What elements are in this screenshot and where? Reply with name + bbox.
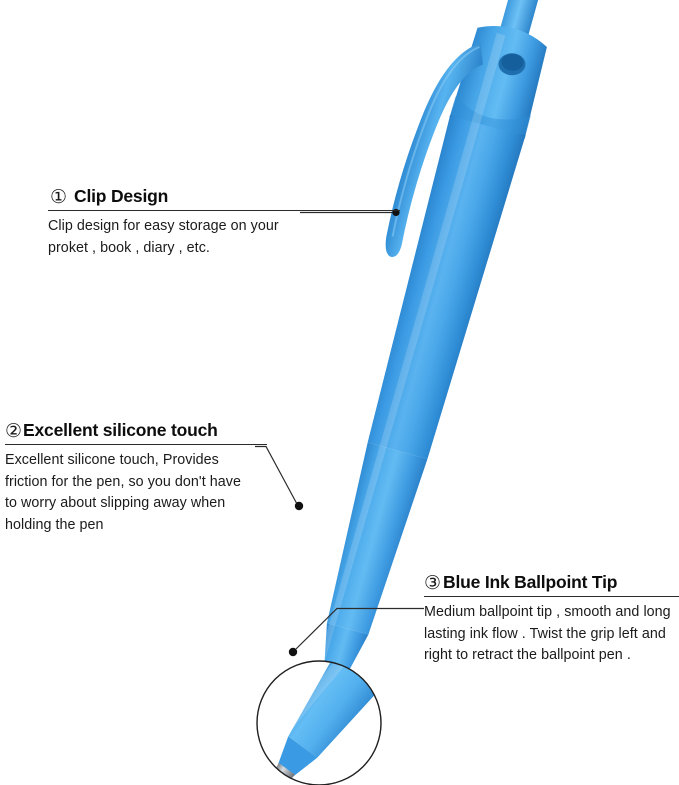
- callout-3-divider: [424, 596, 679, 597]
- callout-1-header: ① Clip Design: [48, 186, 400, 207]
- callout-clip-design: ① Clip Design Clip design for easy stora…: [48, 186, 400, 259]
- callout-1-body: Clip design for easy storage on your pro…: [48, 216, 316, 259]
- leader-marker-3: [289, 648, 297, 656]
- callout-2-title: Excellent silicone touch: [23, 420, 218, 441]
- callout-2-number-badge: ②: [5, 422, 22, 441]
- callout-3-body: Medium ballpoint tip , smooth and long l…: [424, 602, 672, 667]
- callout-1-number-badge: ①: [50, 188, 67, 207]
- product-infographic: ① Clip Design Clip design for easy stora…: [0, 0, 679, 785]
- callout-3-header: ③ Blue Ink Ballpoint Tip: [424, 572, 679, 593]
- callout-1-divider: [48, 210, 400, 211]
- callout-ballpoint-tip: ③ Blue Ink Ballpoint Tip Medium ballpoin…: [424, 572, 679, 667]
- callout-1-title: Clip Design: [74, 186, 168, 207]
- callout-2-header: ② Excellent silicone touch: [5, 420, 267, 441]
- callout-2-body: Excellent silicone touch, Provides frict…: [5, 450, 253, 537]
- callout-3-number-badge: ③: [424, 574, 441, 593]
- callout-3-title: Blue Ink Ballpoint Tip: [443, 572, 617, 593]
- tip-detail-inset: [233, 628, 401, 785]
- callout-silicone-touch: ② Excellent silicone touch Excellent sil…: [5, 420, 267, 537]
- callout-2-divider: [5, 444, 267, 445]
- leader-marker-2: [295, 502, 303, 510]
- pen-illustration: [0, 0, 679, 785]
- leader-lines: [0, 0, 679, 785]
